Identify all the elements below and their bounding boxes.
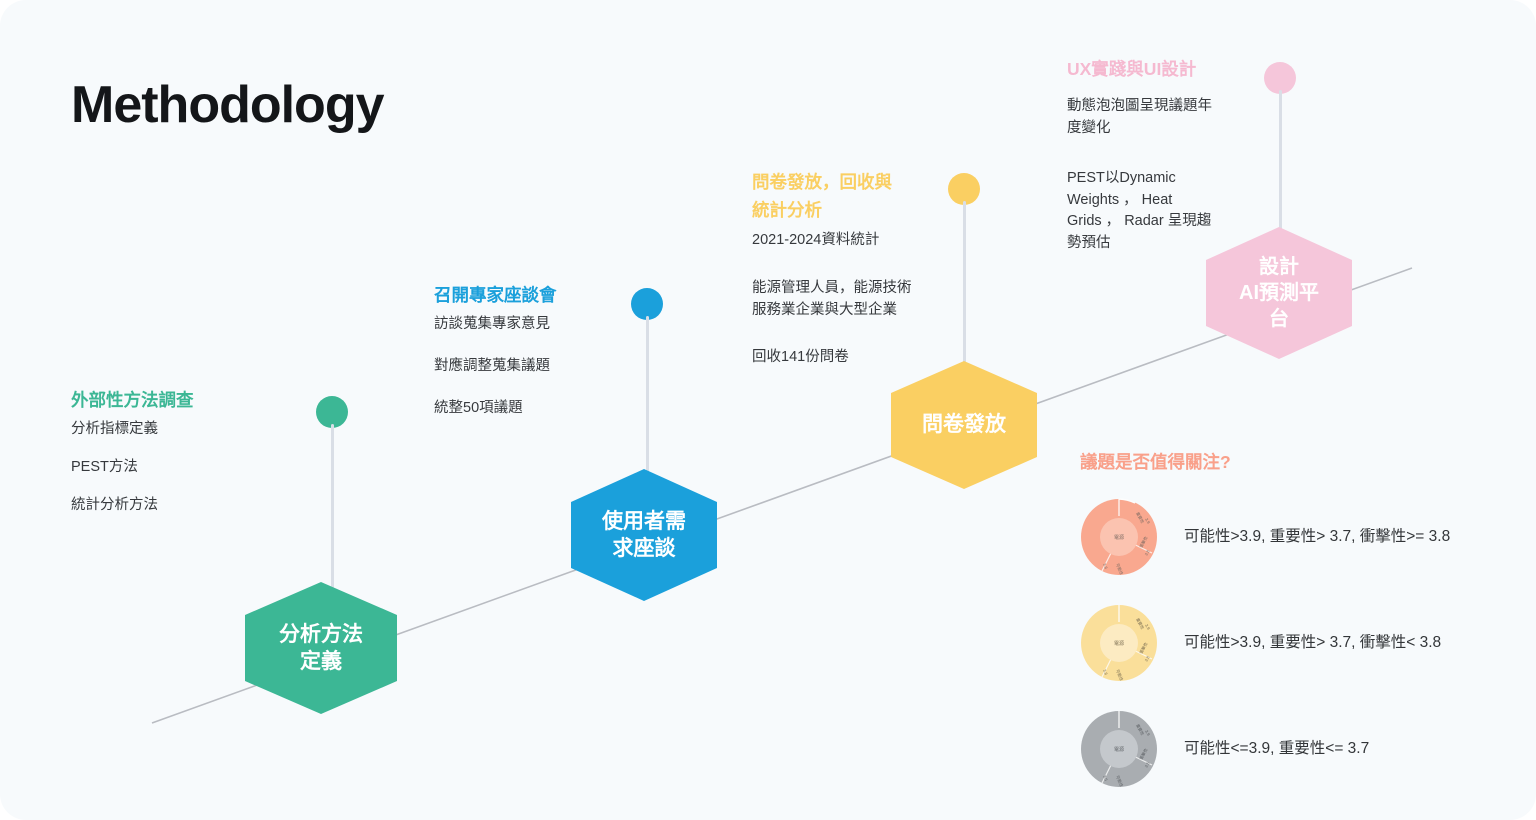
step-1-item-3: 統計分析方法 xyxy=(71,495,401,517)
legend-row: 電源 重要性 3.9 衝擊性 3.8 可能性 3.8 可能性>3.9, 重要性>… xyxy=(1080,498,1510,576)
legend-row-text: 可能性>3.9, 重要性> 3.7, 衝擊性< 3.8 xyxy=(1184,632,1441,654)
step-4-text: UX實踐與UI設計 動態泡泡圖呈現議題年 度變化 PEST以Dynamic We… xyxy=(1067,57,1257,255)
step-2-hexagon[interactable]: 使用者需 求座談 xyxy=(571,469,717,601)
legend-row: 電源 重要性 3.9 衝擊性 3.8 可能性 3.8 可能性>3.9, 重要性>… xyxy=(1080,604,1510,682)
svg-text:電源: 電源 xyxy=(1114,640,1124,647)
step-2-text: 召開專家座談會 訪談蒐集專家意見 對應調整蒐集議題 統整50項議題 xyxy=(434,283,764,420)
legend-panel: 議題是否值得關注? 電源 重要性 3.9 衝擊性 3.8 可能性 3.8 xyxy=(1080,449,1510,788)
legend-row-text: 可能性<=3.9, 重要性<= 3.7 xyxy=(1184,738,1369,760)
step-2-item-3: 統整50項議題 xyxy=(434,398,764,420)
methodology-infographic: Methodology 外部性方法調查 分析指標定義 PEST方法 統計分析方法… xyxy=(0,0,1536,820)
legend-row: 電源 重要性 3.9 衝擊性 3.5 可能性 3.5 可能性<=3.9, 重要性… xyxy=(1080,710,1510,788)
legend-title: 議題是否值得關注? xyxy=(1080,449,1510,474)
step-1-text: 外部性方法調查 分析指標定義 PEST方法 統計分析方法 xyxy=(71,388,401,517)
page-title: Methodology xyxy=(71,79,384,131)
legend-row-text: 可能性>3.9, 重要性> 3.7, 衝擊性>= 3.8 xyxy=(1184,526,1450,548)
step-1-item-1: 分析指標定義 xyxy=(71,419,401,441)
step-1-heading: 外部性方法調查 xyxy=(71,388,401,413)
step-3-hexagon[interactable]: 問卷發放 xyxy=(891,361,1037,489)
donut-chart-icon: 電源 重要性 3.9 衝擊性 3.8 可能性 3.8 xyxy=(1080,498,1158,576)
donut-chart-icon: 電源 重要性 3.9 衝擊性 3.8 可能性 3.8 xyxy=(1080,604,1158,682)
step-4-heading: UX實踐與UI設計 xyxy=(1067,57,1257,82)
step-2-body: 訪談蒐集專家意見 對應調整蒐集議題 統整50項議題 xyxy=(434,314,764,419)
donut-chart-icon: 電源 重要性 3.9 衝擊性 3.5 可能性 3.5 xyxy=(1080,710,1158,788)
step-4-body: 動態泡泡圖呈現議題年 度變化 PEST以Dynamic Weights ， He… xyxy=(1067,96,1257,255)
step-1-hexagon[interactable]: 分析方法 定義 xyxy=(245,582,397,714)
step-1-item-2: PEST方法 xyxy=(71,457,401,479)
step-2-item-1: 訪談蒐集專家意見 xyxy=(434,314,764,336)
step-2-heading: 召開專家座談會 xyxy=(434,283,764,308)
step-4-item-2: PEST以Dynamic Weights ， Heat Grids ， Rada… xyxy=(1067,168,1257,255)
step-2-item-2: 對應調整蒐集議題 xyxy=(434,356,764,378)
svg-text:電源: 電源 xyxy=(1114,534,1124,541)
step-1-stem xyxy=(331,424,334,610)
step-1-body: 分析指標定義 PEST方法 統計分析方法 xyxy=(71,419,401,516)
step-4-item-1: 動態泡泡圖呈現議題年 度變化 xyxy=(1067,96,1257,140)
svg-text:電源: 電源 xyxy=(1114,746,1124,753)
